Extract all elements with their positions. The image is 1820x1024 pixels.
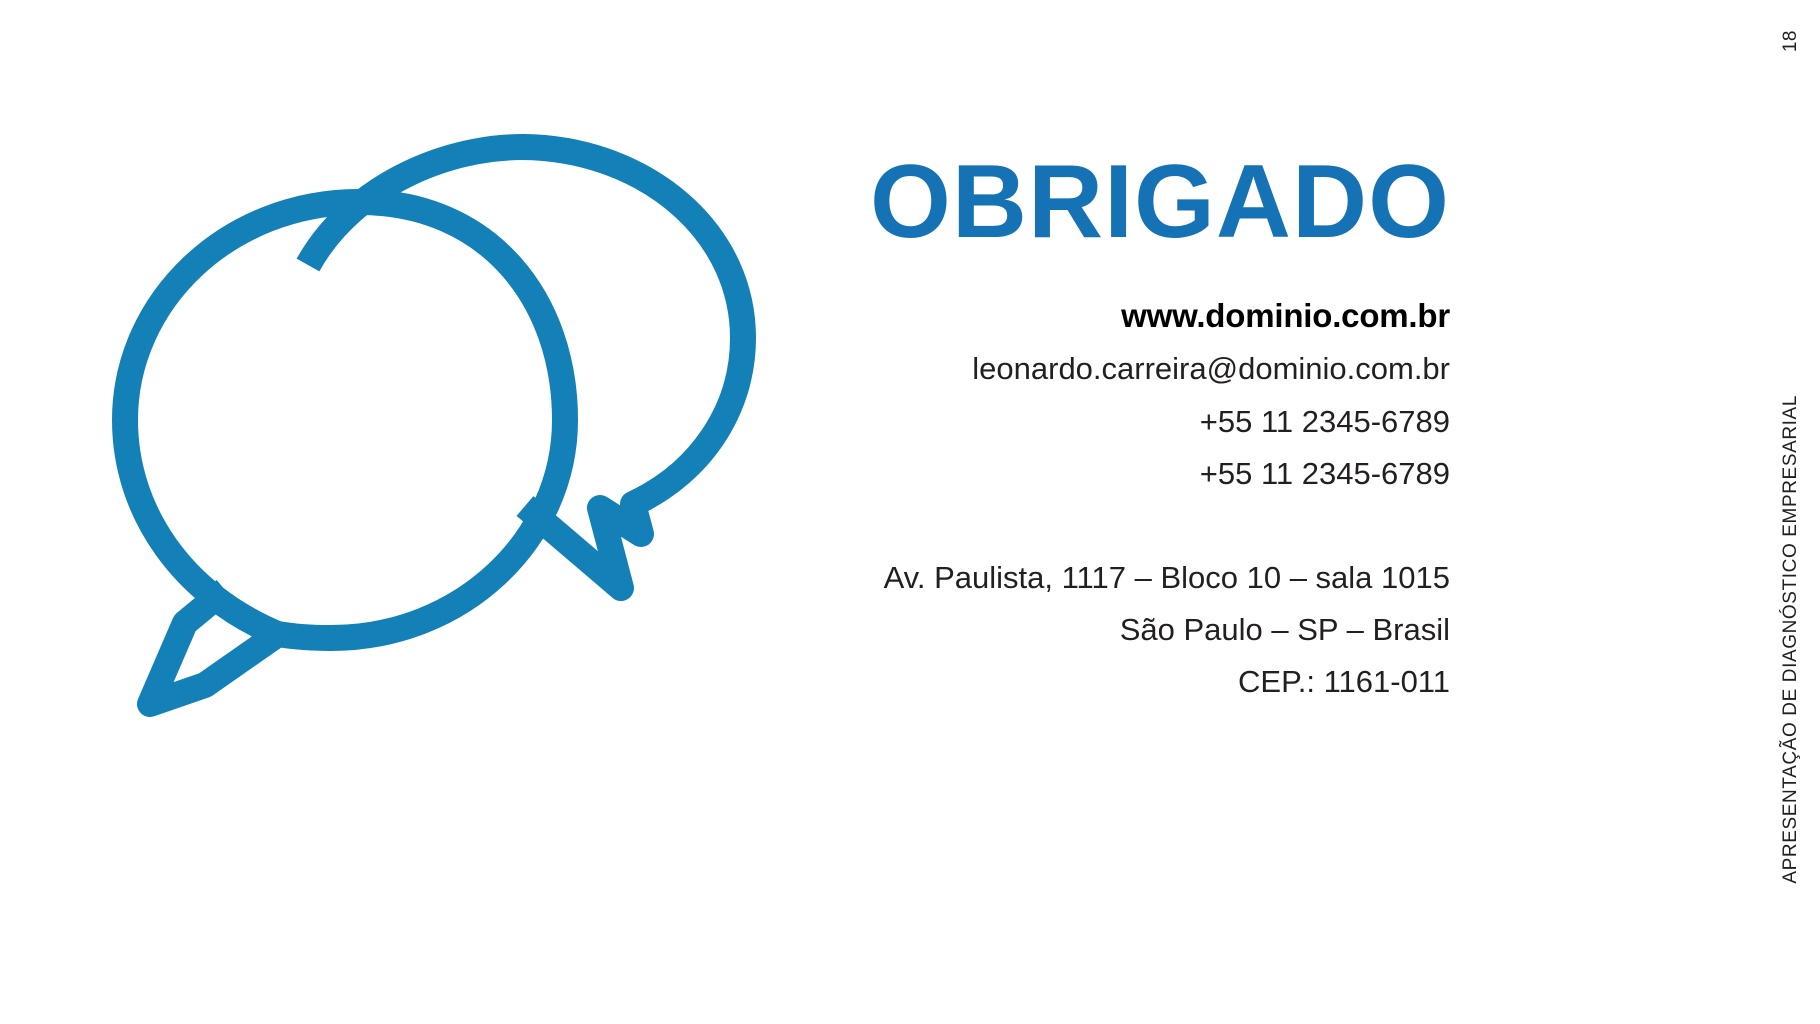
contact-email[interactable]: leonardo.carreira@dominio.com.br: [790, 343, 1450, 395]
contact-website[interactable]: www.dominio.com.br: [790, 288, 1450, 343]
contact-block: www.dominio.com.br leonardo.carreira@dom…: [790, 288, 1450, 708]
speech-bubbles-svg: [95, 110, 795, 730]
speech-bubbles-graphic: [95, 110, 795, 730]
contact-phone-1[interactable]: +55 11 2345-6789: [790, 396, 1450, 448]
address-line-2: São Paulo – SP – Brasil: [790, 604, 1450, 656]
contact-spacer: [790, 500, 1450, 552]
slide-canvas: OBRIGADO www.dominio.com.br leonardo.car…: [0, 0, 1820, 1024]
side-footer-text: APRESENTAÇÃO DE DIAGNÓSTICO EMPRESARIAL: [1780, 395, 1802, 884]
contact-phone-2[interactable]: +55 11 2345-6789: [790, 448, 1450, 500]
address-line-3: CEP.: 1161-011: [790, 656, 1450, 708]
front-speech-bubble-icon: [125, 202, 565, 704]
content-column: OBRIGADO www.dominio.com.br leonardo.car…: [790, 150, 1450, 708]
page-number: 18: [1780, 30, 1802, 52]
address-line-1: Av. Paulista, 1117 – Bloco 10 – sala 101…: [790, 552, 1450, 604]
page-title: OBRIGADO: [790, 150, 1450, 254]
